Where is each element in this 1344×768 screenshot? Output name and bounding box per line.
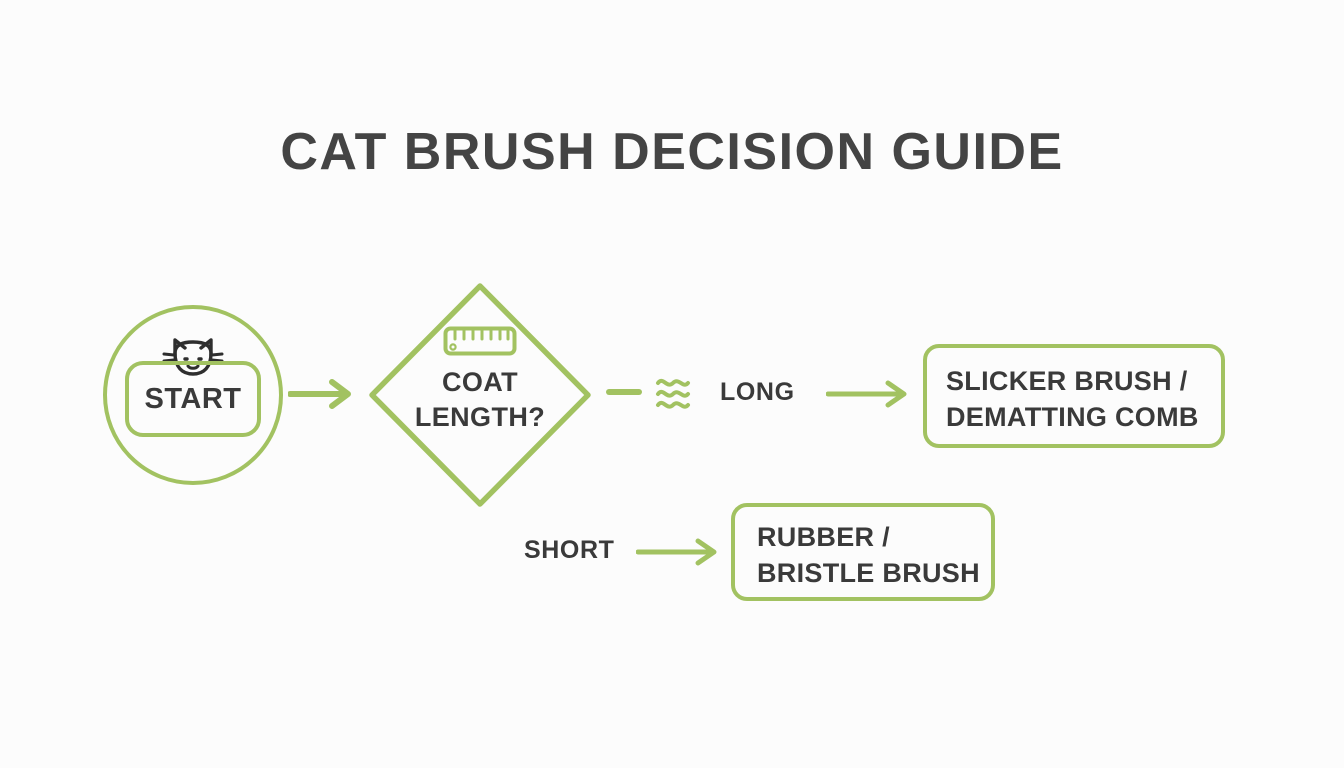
arrow-start-to-decision (288, 374, 360, 414)
start-label: START (125, 361, 261, 437)
decision-label: COAT LENGTH? (385, 365, 575, 434)
result-line2: DEMATTING COMB (946, 399, 1266, 435)
decision-label-line2: LENGTH? (385, 400, 575, 435)
result-label-slicker-brush: SLICKER BRUSH / DEMATTING COMB (946, 363, 1266, 435)
branch-label-short: SHORT (524, 536, 654, 565)
result-line1: SLICKER BRUSH / (946, 363, 1266, 399)
decision-node-coat-length[interactable]: COAT LENGTH? (367, 281, 593, 509)
result-label-rubber-brush: RUBBER / BRISTLE BRUSH (757, 519, 1037, 591)
arrow-short-to-result (636, 534, 726, 570)
diagram-canvas: CAT BRUSH DECISION GUIDE START (0, 0, 1344, 768)
ruler-icon (443, 326, 517, 356)
branch-label-long: LONG (720, 378, 820, 407)
arrow-long-to-result (826, 376, 916, 412)
long-branch-connector-dash (606, 389, 642, 395)
result-line2: BRISTLE BRUSH (757, 555, 1037, 591)
decision-label-line1: COAT (385, 365, 575, 400)
result-line1: RUBBER / (757, 519, 1037, 555)
start-node[interactable]: START (103, 305, 283, 485)
waves-icon (654, 372, 692, 414)
page-title: CAT BRUSH DECISION GUIDE (0, 124, 1344, 181)
